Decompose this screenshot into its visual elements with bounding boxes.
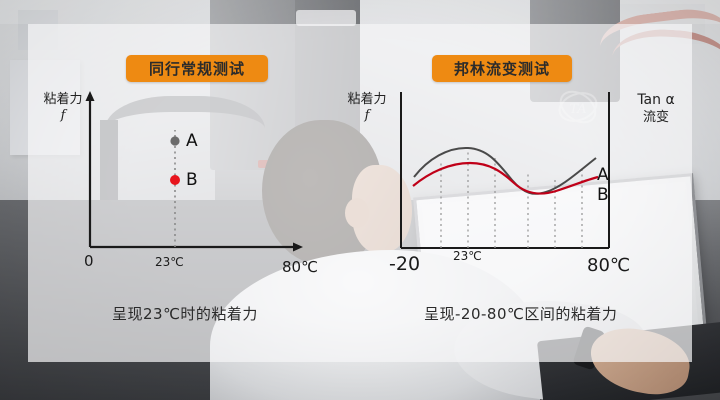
right-caption: 呈现-20-80℃区间的粘着力 [424, 303, 617, 324]
screenshot-root: 同行常规测试 粘着力 f A B 0 23℃ 80℃ 呈现23℃时的粘着力 邦林… [0, 0, 720, 400]
chart-right-line: 粘着力 f Tan α 流变 A [0, 0, 720, 400]
right-chart-svg [0, 0, 720, 400]
right-series-label-a: A [597, 165, 609, 185]
right-xtick-minus20: -20 [389, 253, 420, 275]
right-xtick-23c: 23℃ [453, 249, 482, 263]
right-xtick-80c: 80℃ [587, 255, 630, 276]
right-series-label-b: B [597, 185, 609, 205]
